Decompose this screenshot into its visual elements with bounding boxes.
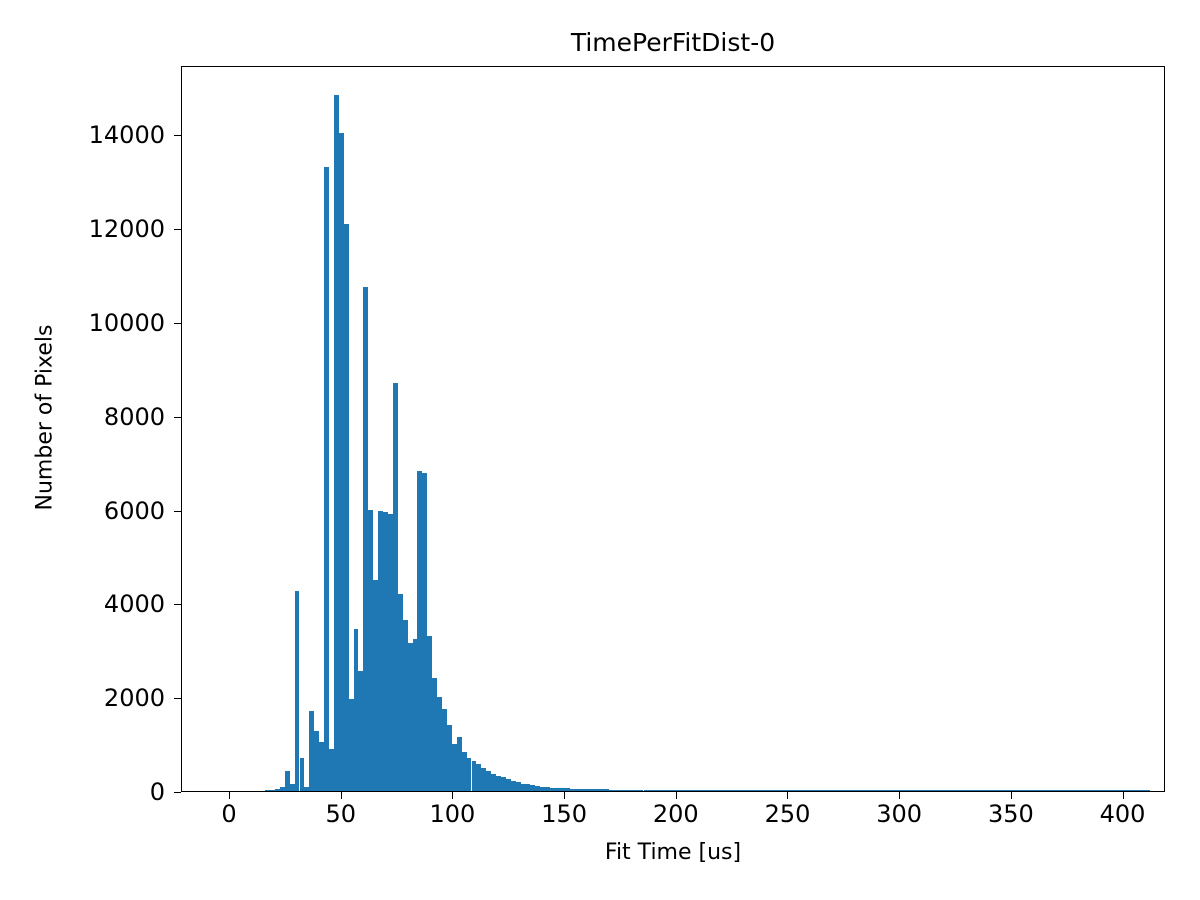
x-axis-tick-mark xyxy=(341,792,342,799)
y-axis-tick-label: 4000 xyxy=(0,592,165,616)
y-axis-tick-mark xyxy=(174,698,181,699)
y-axis-tick-label: 14000 xyxy=(0,123,165,147)
x-axis-tick-label: 50 xyxy=(325,802,356,826)
y-axis-tick-label: 6000 xyxy=(0,499,165,523)
x-axis-tick-mark xyxy=(1123,792,1124,799)
histogram-bar xyxy=(1145,790,1150,791)
x-axis-tick-mark xyxy=(229,792,230,799)
y-axis-label: Number of Pixels xyxy=(33,168,58,668)
x-axis-tick-label: 300 xyxy=(876,802,922,826)
histogram-bar xyxy=(324,167,329,791)
y-axis-tick-label: 10000 xyxy=(0,311,165,335)
y-axis-tick-mark xyxy=(174,417,181,418)
histogram-bar xyxy=(300,758,305,791)
y-axis-tick-label: 12000 xyxy=(0,217,165,241)
x-axis-tick-mark xyxy=(452,792,453,799)
figure-canvas: TimePerFitDist-0 02000400060008000100001… xyxy=(0,0,1200,900)
x-axis-tick-label: 100 xyxy=(430,802,476,826)
y-axis-tick-mark xyxy=(174,323,181,324)
x-axis-tick-mark xyxy=(899,792,900,799)
page-title: TimePerFitDist-0 xyxy=(181,28,1165,58)
x-axis-tick-mark xyxy=(787,792,788,799)
x-axis-tick-mark xyxy=(1011,792,1012,799)
x-axis-tick-label: 350 xyxy=(988,802,1034,826)
y-axis-tick-label: 2000 xyxy=(0,686,165,710)
x-axis-tick-label: 250 xyxy=(765,802,811,826)
y-axis-tick-label: 0 xyxy=(0,780,165,804)
histogram-bars xyxy=(182,67,1164,791)
y-axis-tick-mark xyxy=(174,792,181,793)
x-axis-tick-label: 400 xyxy=(1100,802,1146,826)
x-axis-tick-label: 150 xyxy=(541,802,587,826)
y-axis-tick-mark xyxy=(174,604,181,605)
x-axis-tick-mark xyxy=(564,792,565,799)
y-axis-tick-mark xyxy=(174,135,181,136)
y-axis-tick-mark xyxy=(174,229,181,230)
x-axis-tick-label: 200 xyxy=(653,802,699,826)
plot-area xyxy=(181,66,1165,792)
x-axis-label: Fit Time [us] xyxy=(181,840,1165,865)
x-axis-tick-mark xyxy=(676,792,677,799)
x-axis-tick-label: 0 xyxy=(221,802,236,826)
y-axis-tick-label: 8000 xyxy=(0,405,165,429)
y-axis-tick-mark xyxy=(174,511,181,512)
